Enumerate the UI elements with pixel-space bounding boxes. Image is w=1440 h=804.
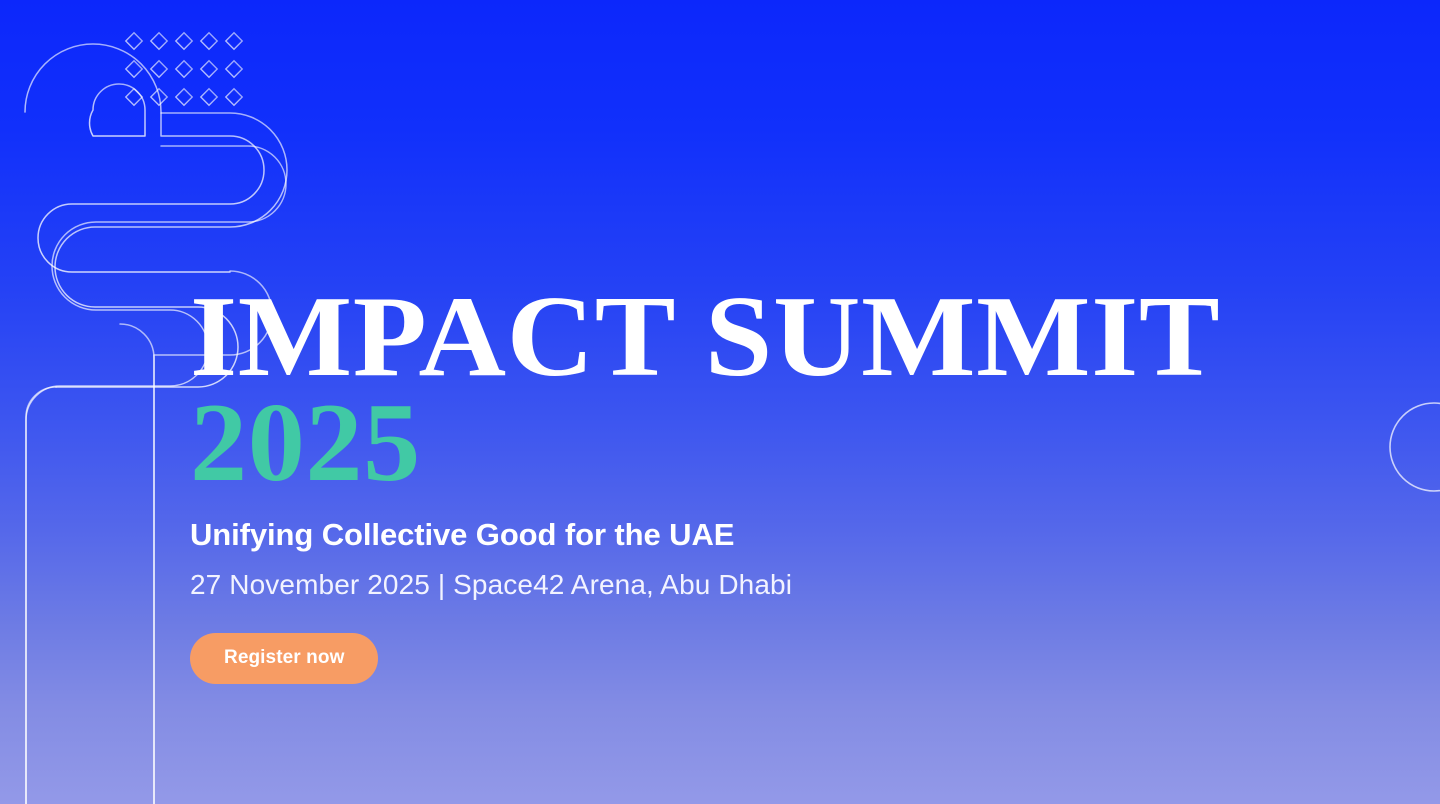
cta-container: Register now [190, 633, 1390, 684]
hero-tagline: Unifying Collective Good for the UAE [190, 517, 1390, 553]
hero-event-details: 27 November 2025 | Space42 Arena, Abu Dh… [190, 569, 1390, 601]
hero-banner: IMPACT SUMMIT 2025 Unifying Collective G… [0, 0, 1440, 804]
diamond-grid-icon [126, 33, 242, 105]
hero-content: IMPACT SUMMIT 2025 Unifying Collective G… [190, 288, 1390, 684]
page-title-primary: IMPACT SUMMIT [190, 288, 1440, 388]
register-now-button[interactable]: Register now [190, 633, 378, 684]
page-title-year: 2025 [190, 392, 1414, 495]
